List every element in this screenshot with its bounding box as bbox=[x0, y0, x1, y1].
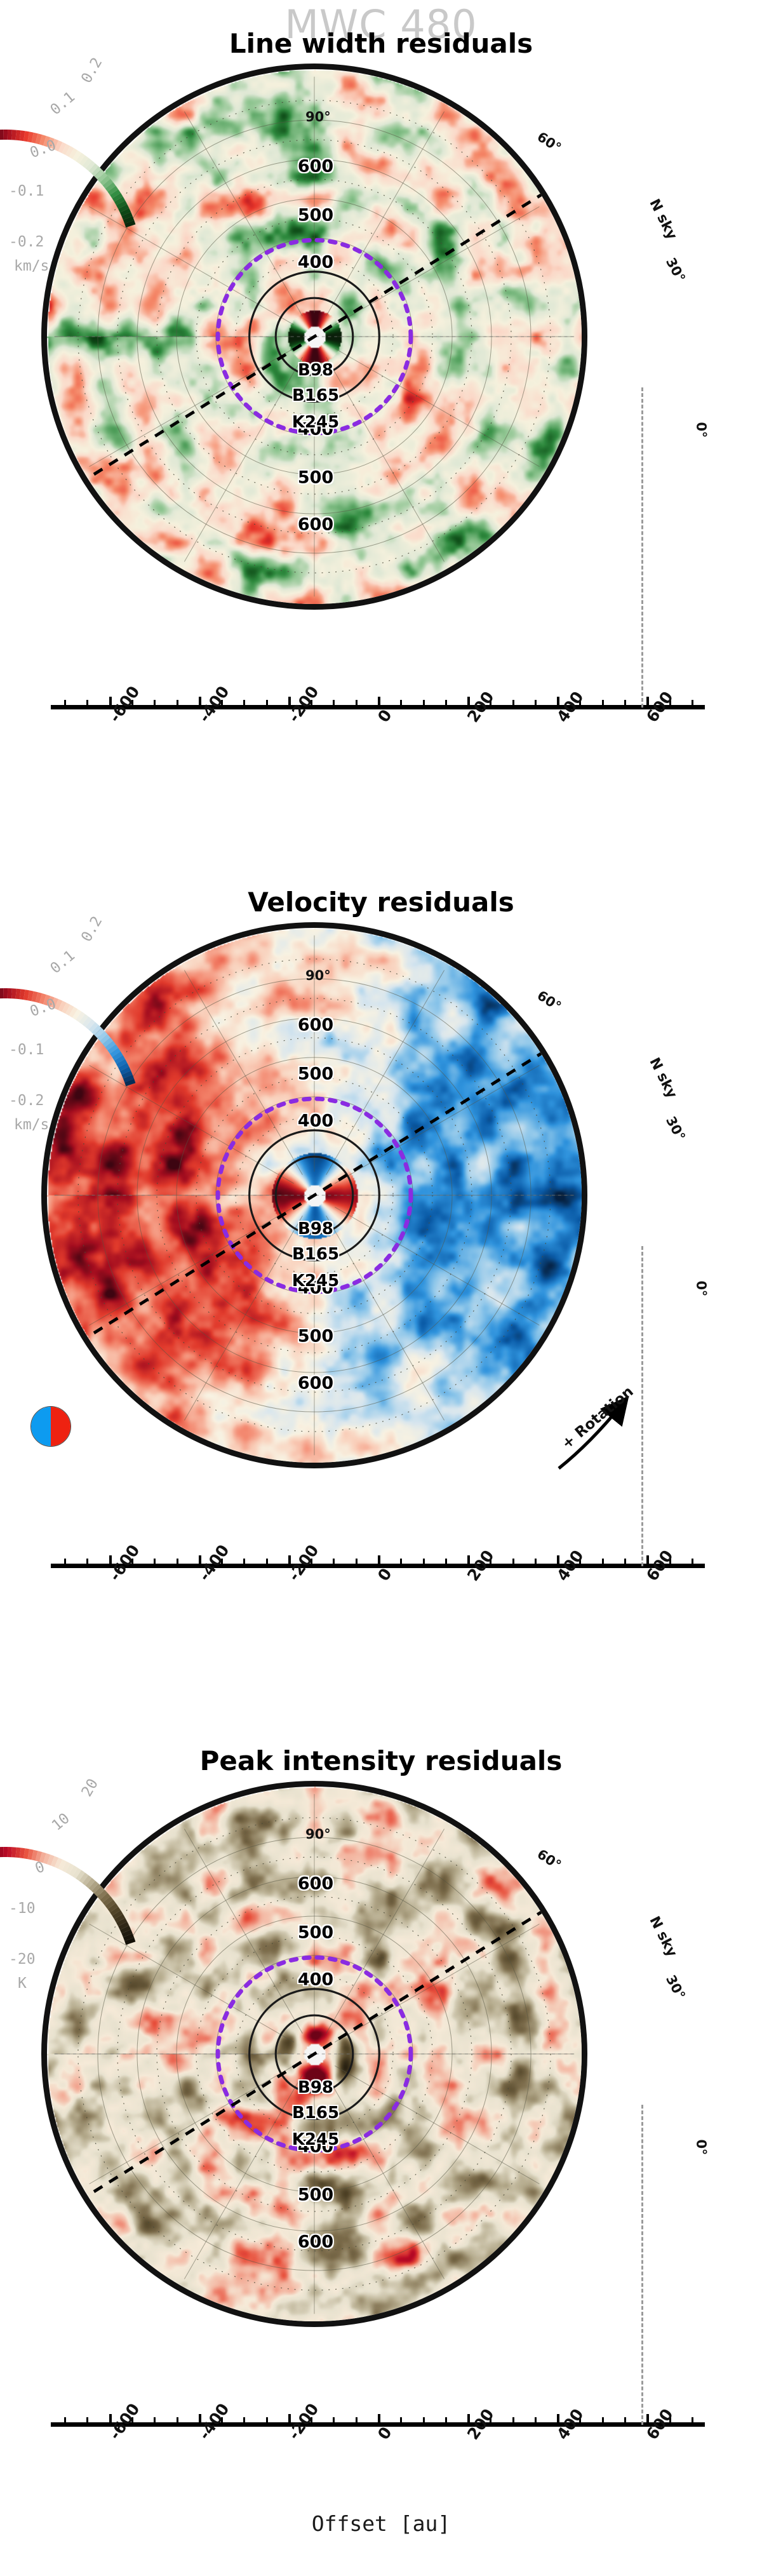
axis-tick-major bbox=[109, 2414, 112, 2422]
axis-tick-major bbox=[646, 697, 649, 705]
radius-label-500-bottom: 500 bbox=[298, 468, 333, 488]
axis-tick-minor bbox=[624, 2417, 626, 2422]
ring-label-k245: K245 bbox=[292, 1271, 339, 1291]
axis-tick-minor bbox=[266, 1559, 268, 1564]
axis-tick-minor bbox=[333, 1559, 335, 1564]
axis-tick-minor bbox=[535, 2417, 537, 2422]
angle-label-0: 0° bbox=[693, 1280, 709, 1297]
axis-tick-minor bbox=[445, 700, 447, 705]
axis-tick-minor bbox=[692, 700, 693, 705]
radius-label-400-top: 400 bbox=[298, 1970, 333, 1990]
angle-label-30: 30° bbox=[663, 1114, 688, 1143]
axis-tick-minor bbox=[535, 700, 537, 705]
axis-tick-minor bbox=[177, 1559, 178, 1564]
axis-tick-major bbox=[288, 2414, 291, 2422]
axis-tick-minor bbox=[400, 1559, 402, 1564]
axis-tick-minor bbox=[512, 2417, 514, 2422]
radius-label-500-top: 500 bbox=[298, 1923, 333, 1943]
radius-label-500-bottom: 500 bbox=[298, 2185, 333, 2205]
axis-tick-minor bbox=[64, 2417, 66, 2422]
cbar1-unit: km/s bbox=[14, 258, 49, 274]
panel-3-title: Peak intensity residuals bbox=[0, 1745, 762, 1776]
angle-label-30: 30° bbox=[663, 255, 688, 285]
axis-tick-major bbox=[557, 1555, 559, 1564]
ring-label-b165: B165 bbox=[292, 386, 339, 405]
axis-tick-major bbox=[646, 1555, 649, 1564]
axis-tick-minor bbox=[154, 700, 156, 705]
doppler-red-half bbox=[51, 1407, 70, 1446]
axis-tick-minor bbox=[356, 1559, 358, 1564]
axis-tick-major bbox=[288, 697, 291, 705]
axis-tick-minor bbox=[602, 1559, 604, 1564]
axis-tick-major bbox=[557, 697, 559, 705]
right-guide-line-panel-3 bbox=[641, 2105, 643, 2425]
right-guide-line-panel-1 bbox=[641, 387, 643, 708]
axis-tick-minor bbox=[243, 2417, 245, 2422]
radius-label-600-bottom: 600 bbox=[298, 2232, 333, 2252]
axis-tick-minor bbox=[243, 1559, 245, 1564]
cbar2-unit: km/s bbox=[14, 1117, 49, 1133]
panel-peak-intensity-residuals: Peak intensity residuals 20 10 0 -10 -20… bbox=[0, 1717, 762, 2576]
axis-tick-major bbox=[557, 2414, 559, 2422]
axis-tick-minor bbox=[154, 2417, 156, 2422]
angle-label-90: 90° bbox=[305, 968, 331, 983]
n-sky-label: N sky bbox=[646, 1055, 679, 1101]
ring-label-b98: B98 bbox=[298, 2078, 333, 2097]
radius-label-400-top: 400 bbox=[298, 1111, 333, 1131]
n-sky-label: N sky bbox=[646, 1914, 679, 1959]
radius-label-500-top: 500 bbox=[298, 1064, 333, 1084]
x-axis-label: Offset [au] bbox=[0, 2511, 762, 2536]
axis-tick-major bbox=[199, 2414, 201, 2422]
radius-label-600-top: 600 bbox=[298, 157, 333, 177]
axis-tick-minor bbox=[602, 700, 604, 705]
axis-tick-major bbox=[109, 697, 112, 705]
axis-tick-minor bbox=[692, 2417, 693, 2422]
axis-tick-minor bbox=[400, 700, 402, 705]
axis-tick-minor bbox=[535, 1559, 537, 1564]
axis-tick-major bbox=[199, 1555, 201, 1564]
axis-tick-minor bbox=[445, 2417, 447, 2422]
radius-label-500-top: 500 bbox=[298, 206, 333, 225]
right-guide-line-panel-2 bbox=[641, 1246, 643, 1566]
radius-label-600-bottom: 600 bbox=[298, 515, 333, 535]
cbar1-tick-3: -0.1 bbox=[9, 183, 44, 199]
axis-tick-minor bbox=[512, 700, 514, 705]
doppler-blue-half bbox=[31, 1407, 51, 1446]
axis-tick-minor bbox=[86, 1559, 88, 1564]
axis-tick-minor bbox=[86, 700, 88, 705]
angle-label-90: 90° bbox=[305, 109, 331, 124]
axis-tick-minor bbox=[400, 2417, 402, 2422]
radius-label-600-top: 600 bbox=[298, 1016, 333, 1035]
axis-tick-minor bbox=[243, 700, 245, 705]
radius-label-400-top: 400 bbox=[298, 253, 333, 272]
axis-tick-major bbox=[109, 1555, 112, 1564]
cbar2-tick-3: -0.1 bbox=[9, 1042, 44, 1058]
angle-label-30: 30° bbox=[663, 1973, 688, 2002]
ring-label-b165: B165 bbox=[292, 1245, 339, 1264]
axis-tick-major bbox=[288, 1555, 291, 1564]
angle-label-0: 0° bbox=[693, 2139, 709, 2156]
axis-tick-minor bbox=[423, 2417, 425, 2422]
axis-tick-major bbox=[646, 2414, 649, 2422]
axis-tick-major bbox=[378, 2414, 380, 2422]
axis-tick-minor bbox=[177, 2417, 178, 2422]
axis-tick-minor bbox=[266, 700, 268, 705]
cbar3-tick-4: -20 bbox=[9, 1951, 36, 1968]
cbar1-tick-4: -0.2 bbox=[9, 234, 44, 250]
ring-label-k245: K245 bbox=[292, 413, 339, 432]
n-sky-label: N sky bbox=[646, 196, 679, 242]
axis-tick-minor bbox=[624, 700, 626, 705]
axis-tick-major bbox=[467, 697, 470, 705]
axis-tick-minor bbox=[266, 2417, 268, 2422]
panel-velocity-residuals: Velocity residuals 0.2 0.1 0.0 -0.1 -0.2… bbox=[0, 859, 762, 1722]
ring-label-b98: B98 bbox=[298, 361, 333, 380]
axis-tick-major bbox=[378, 697, 380, 705]
angle-label-0: 0° bbox=[693, 422, 709, 438]
axis-tick-minor bbox=[64, 700, 66, 705]
axis-tick-major bbox=[378, 1555, 380, 1564]
axis-tick-minor bbox=[356, 2417, 358, 2422]
ring-label-k245: K245 bbox=[292, 2130, 339, 2149]
axis-tick-minor bbox=[624, 1559, 626, 1564]
radius-label-500-bottom: 500 bbox=[298, 1327, 333, 1346]
panel-line-width-residuals: Line width residuals 0.2 0.1 0.0 -0.1 -0… bbox=[0, 0, 762, 864]
axis-tick-minor bbox=[333, 2417, 335, 2422]
axis-tick-major bbox=[199, 697, 201, 705]
ring-label-b165: B165 bbox=[292, 2103, 339, 2123]
axis-tick-minor bbox=[423, 700, 425, 705]
angle-label-90: 90° bbox=[305, 1827, 331, 1842]
doppler-legend-icon bbox=[30, 1406, 71, 1447]
cbar3-tick-3: -10 bbox=[9, 1900, 36, 1917]
axis-tick-minor bbox=[177, 700, 178, 705]
panel-1-title: Line width residuals bbox=[0, 28, 762, 59]
panel-2-title: Velocity residuals bbox=[0, 887, 762, 918]
cbar3-unit: K bbox=[18, 1975, 27, 1992]
axis-tick-minor bbox=[602, 2417, 604, 2422]
axis-tick-minor bbox=[356, 700, 358, 705]
cbar2-tick-4: -0.2 bbox=[9, 1092, 44, 1109]
axis-tick-minor bbox=[86, 2417, 88, 2422]
axis-tick-major bbox=[467, 1555, 470, 1564]
axis-tick-minor bbox=[445, 1559, 447, 1564]
axis-tick-minor bbox=[154, 1559, 156, 1564]
axis-tick-major bbox=[467, 2414, 470, 2422]
axis-tick-minor bbox=[423, 1559, 425, 1564]
axis-tick-minor bbox=[512, 1559, 514, 1564]
axis-tick-minor bbox=[64, 1559, 66, 1564]
axis-tick-minor bbox=[692, 1559, 693, 1564]
ring-label-b98: B98 bbox=[298, 1219, 333, 1238]
radius-label-600-bottom: 600 bbox=[298, 1374, 333, 1393]
radius-label-600-top: 600 bbox=[298, 1874, 333, 1894]
axis-tick-minor bbox=[333, 700, 335, 705]
